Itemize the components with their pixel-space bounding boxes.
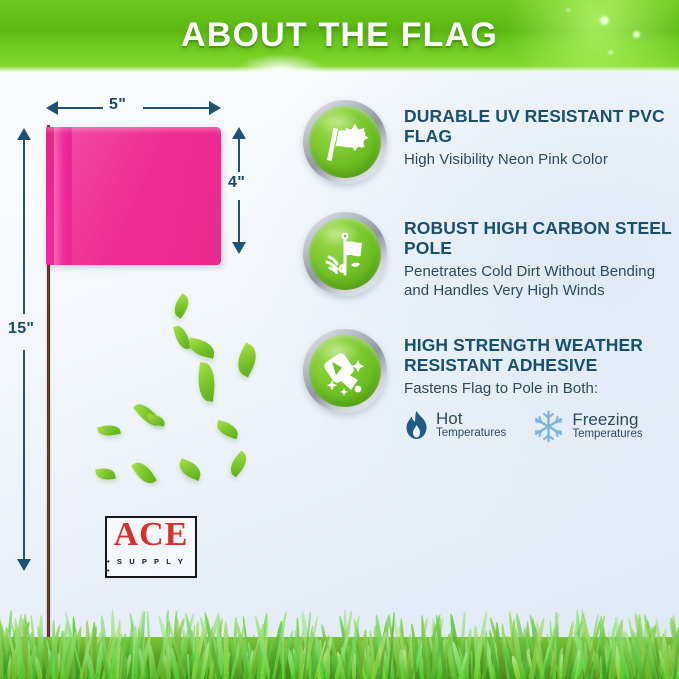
flag-sun-icon	[318, 115, 372, 169]
logo-name: ACE	[114, 518, 189, 552]
feature-text: HIGH STRENGTH WEATHER RESISTANT ADHESIVE…	[387, 329, 679, 443]
flag-sheen	[72, 127, 177, 265]
feature-text: DURABLE UV RESISTANT PVC FLAG High Visib…	[387, 100, 679, 170]
flame-icon	[404, 410, 429, 440]
dimension-label-width: 5"	[109, 96, 126, 114]
dimension-line-height	[238, 200, 240, 242]
temperature-item-freezing: Freezing Temperatures	[532, 410, 642, 443]
dimension-arrow-down	[17, 559, 31, 571]
feature-text: ROBUST HIGH CARBON STEEL POLE Penetrates…	[387, 212, 679, 301]
temperature-item-hot: Hot Temperatures	[404, 410, 506, 441]
feature-list: DURABLE UV RESISTANT PVC FLAG High Visib…	[303, 100, 679, 461]
brand-logo: ACE • S U P P L Y •	[105, 516, 197, 578]
snowflake-icon	[532, 410, 565, 443]
feature-subtitle: Penetrates Cold Dirt Without Bending and…	[404, 263, 679, 301]
pink-flag	[46, 127, 221, 265]
feature-item-steel-pole: ROBUST HIGH CARBON STEEL POLE Penetrates…	[303, 212, 679, 301]
dimension-label-pole: 15"	[8, 320, 34, 338]
feature-subtitle: High Visibility Neon Pink Color	[404, 151, 679, 170]
dimension-arrow-down	[232, 242, 246, 254]
sparkle-icon	[566, 8, 570, 12]
grass-blade	[311, 632, 315, 679]
dimension-line-pole	[23, 350, 25, 559]
grass-blade	[122, 633, 128, 679]
temperature-name: Freezing	[572, 411, 642, 428]
temperature-range-list: Hot Temperatures	[404, 410, 679, 443]
adhesive-bottle-icon	[318, 344, 372, 398]
banner-glow	[236, 54, 326, 72]
infographic-canvas: ABOUT THE FLAG 5" 4" 15"	[0, 0, 679, 679]
feature-subtitle: Fastens Flag to Pole in Both:	[404, 380, 679, 399]
dimension-line-height	[238, 138, 240, 172]
badge-circle	[303, 212, 387, 296]
temperature-name: Hot	[436, 410, 506, 427]
logo-tagline: • S U P P L Y •	[107, 557, 195, 575]
dimension-line-width	[57, 107, 103, 109]
page-title: ABOUT THE FLAG	[0, 16, 679, 55]
grass-blade	[223, 621, 229, 679]
feature-item-uv-resistant: DURABLE UV RESISTANT PVC FLAG High Visib…	[303, 100, 679, 184]
badge-circle	[303, 100, 387, 184]
temperature-unit: Temperatures	[436, 427, 506, 440]
dimension-arrow-right	[209, 101, 221, 115]
dimension-line-pole	[23, 139, 25, 314]
flag-wind-icon	[318, 227, 372, 281]
flag-fold	[54, 127, 71, 265]
grass-blade	[243, 639, 247, 679]
feature-item-adhesive: HIGH STRENGTH WEATHER RESISTANT ADHESIVE…	[303, 329, 679, 443]
temperature-label: Hot Temperatures	[436, 410, 506, 441]
grass-field	[0, 591, 679, 679]
feature-title: ROBUST HIGH CARBON STEEL POLE	[404, 218, 679, 259]
dimension-line-width	[143, 107, 210, 109]
badge-circle	[303, 329, 387, 413]
header-banner: ABOUT THE FLAG	[0, 0, 679, 72]
dimension-label-height: 4"	[228, 174, 245, 192]
feature-title: HIGH STRENGTH WEATHER RESISTANT ADHESIVE	[404, 335, 679, 376]
temperature-unit: Temperatures	[572, 428, 642, 441]
feature-title: DURABLE UV RESISTANT PVC FLAG	[404, 106, 679, 147]
temperature-label: Freezing Temperatures	[572, 411, 642, 442]
